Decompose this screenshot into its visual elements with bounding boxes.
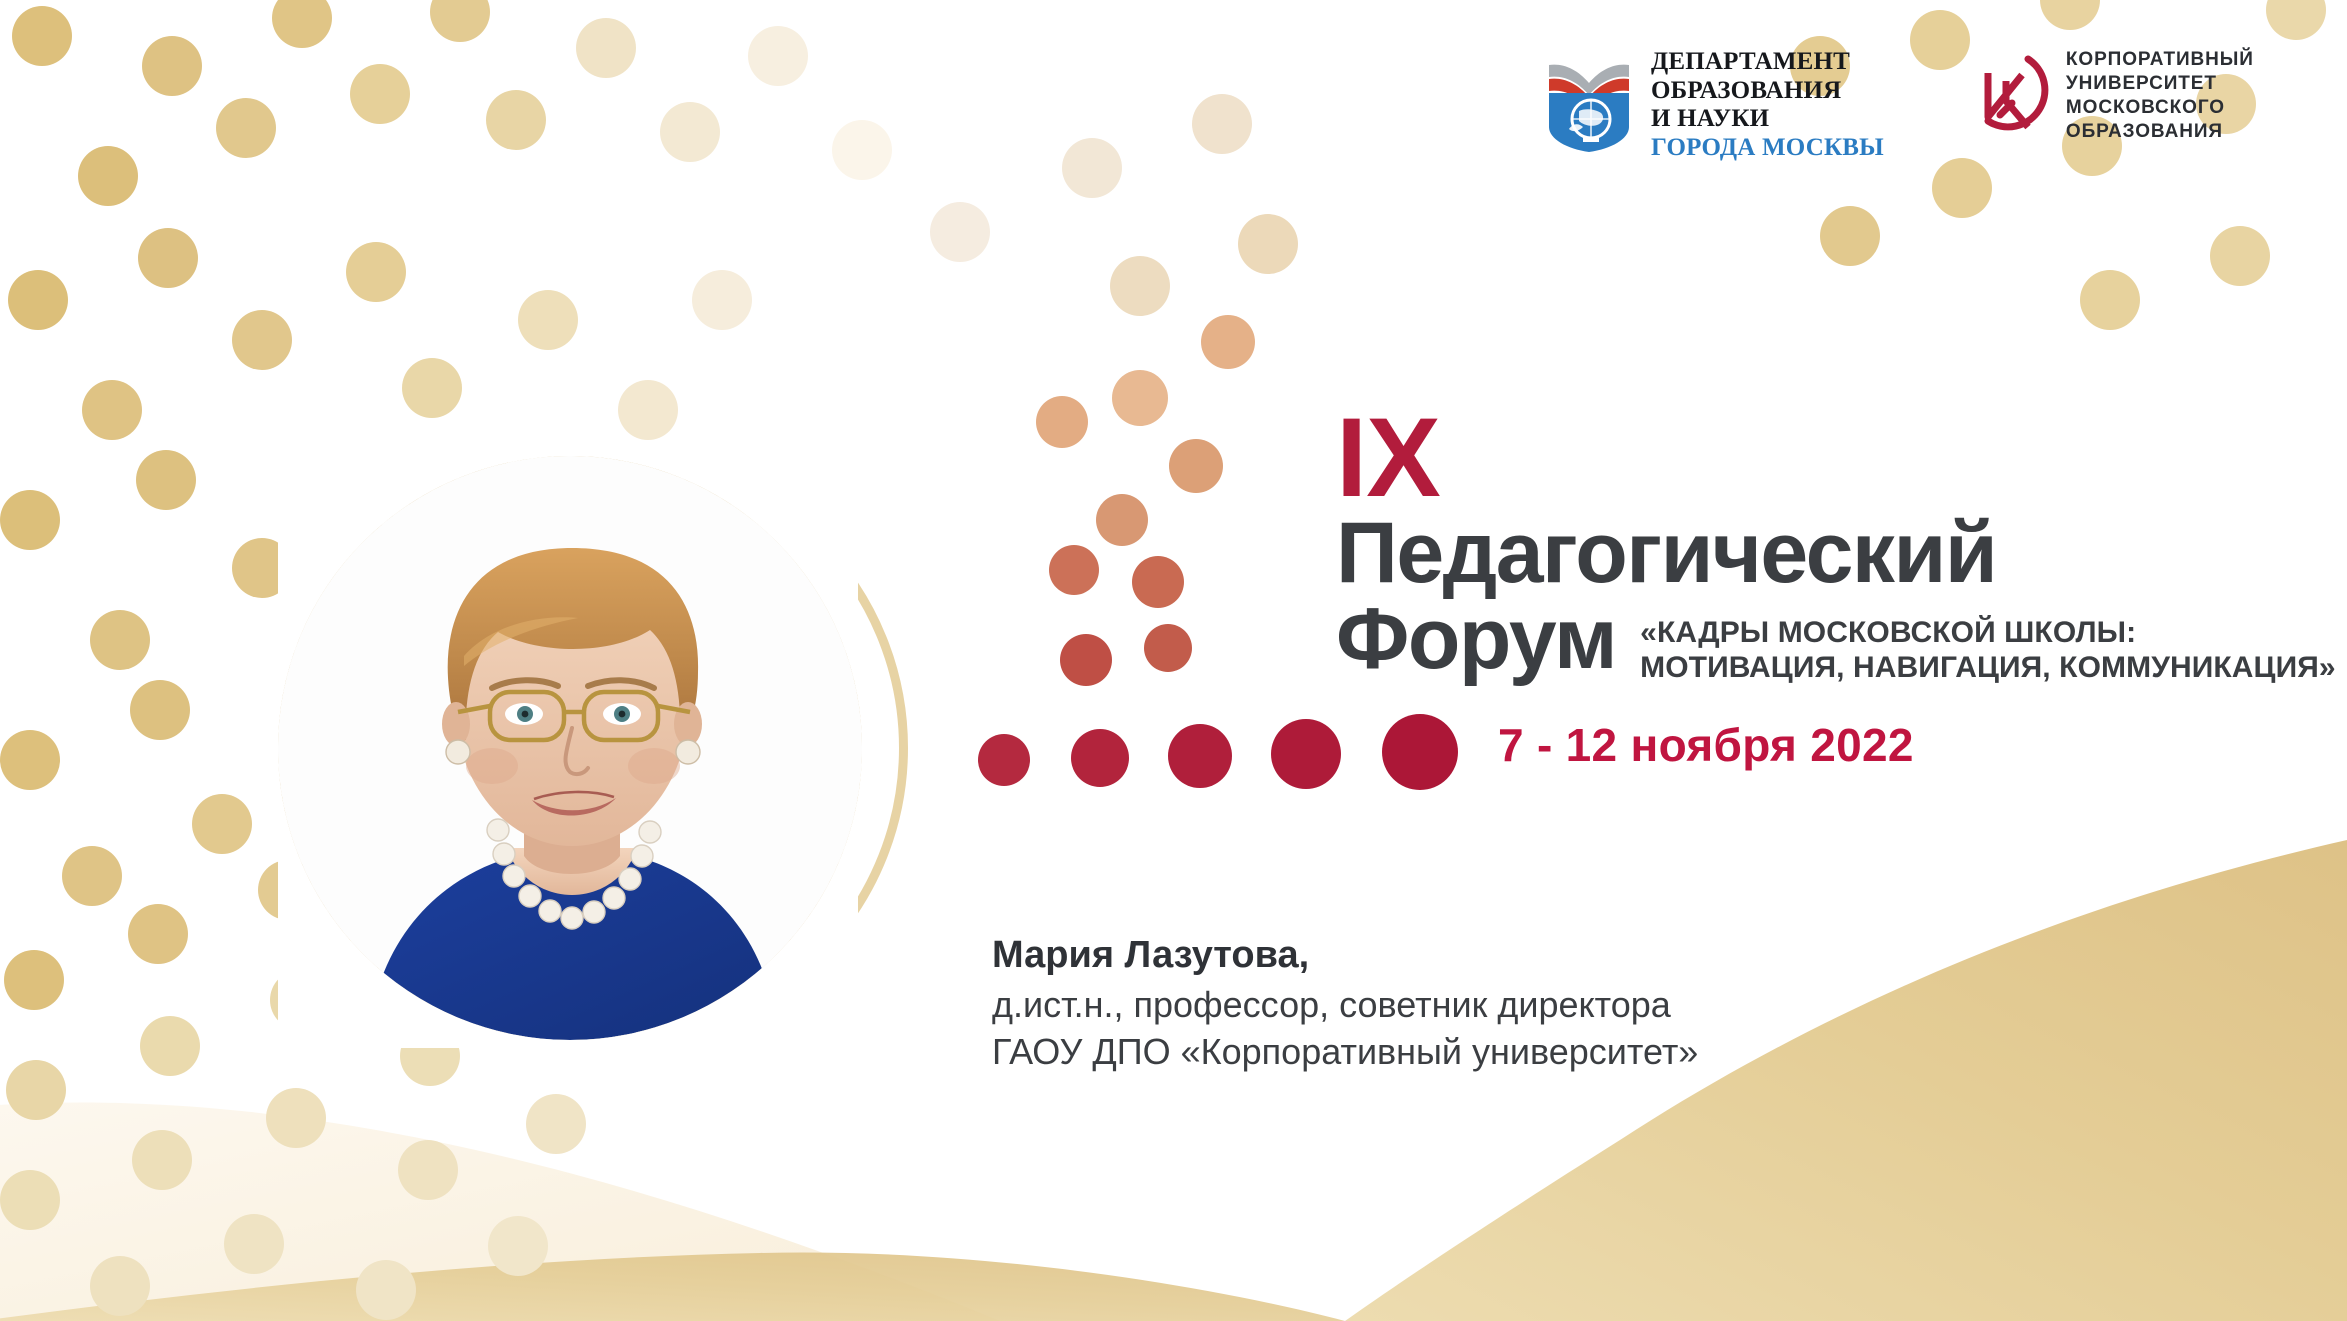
- department-line-1: ДЕПАРТАМЕНТ: [1651, 48, 1884, 77]
- department-logo: ДЕПАРТАМЕНТ ОБРАЗОВАНИЯ И НАУКИ ГОРОДА М…: [1545, 48, 1884, 162]
- event-subtitle: «КАДРЫ МОСКОВСКОЙ ШКОЛЫ: МОТИВАЦИЯ, НАВИ…: [1640, 615, 2336, 685]
- headline-line-2: Форум: [1336, 597, 1616, 681]
- speaker-title-line-1: д.ист.н., профессор, советник директора: [992, 981, 1698, 1029]
- department-line-2: ОБРАЗОВАНИЯ: [1651, 77, 1884, 106]
- corporate-university-logo: КОРПОРАТИВНЫЙ УНИВЕРСИТЕТ МОСКОВСКОГО ОБ…: [1966, 48, 2254, 144]
- speaker-portrait: [278, 448, 878, 1048]
- department-logo-text: ДЕПАРТАМЕНТ ОБРАЗОВАНИЯ И НАУКИ ГОРОДА М…: [1651, 48, 1884, 162]
- gold-swoosh-bottom-right: [1345, 840, 2347, 1321]
- headline-line-1: Педагогический: [1336, 511, 2336, 595]
- corporate-university-logo-text: КОРПОРАТИВНЫЙ УНИВЕРСИТЕТ МОСКОВСКОГО ОБ…: [2066, 48, 2254, 144]
- cream-swoosh-bottom-left: [0, 1102, 1000, 1321]
- department-city-line: ГОРОДА МОСКВЫ: [1651, 134, 1884, 163]
- speaker-title-line-2: ГАОУ ДПО «Корпоративный университет»: [992, 1028, 1698, 1076]
- ku-line-1: КОРПОРАТИВНЫЙ: [2066, 48, 2254, 72]
- speaker-info: Мария Лазутова, д.ист.н., профессор, сов…: [992, 930, 1698, 1076]
- department-line-3: И НАУКИ: [1651, 105, 1884, 134]
- subtitle-line-2: МОТИВАЦИЯ, НАВИГАЦИЯ, КОММУНИКАЦИЯ»: [1640, 650, 2336, 685]
- speaker-name: Мария Лазутова,: [992, 930, 1698, 981]
- corporate-university-monogram-icon: [1966, 49, 2050, 142]
- ku-line-3: МОСКОВСКОГО: [2066, 96, 2254, 120]
- subtitle-line-1: «КАДРЫ МОСКОВСКОЙ ШКОЛЫ:: [1640, 615, 2336, 650]
- event-dates: 7 - 12 ноября 2022: [1498, 718, 1914, 772]
- ku-line-4: ОБРАЗОВАНИЯ: [2066, 120, 2254, 144]
- logo-bar: ДЕПАРТАМЕНТ ОБРАЗОВАНИЯ И НАУКИ ГОРОДА М…: [1545, 48, 2254, 162]
- moscow-education-department-emblem-icon: [1545, 53, 1633, 158]
- poster-canvas: ДЕПАРТАМЕНТ ОБРАЗОВАНИЯ И НАУКИ ГОРОДА М…: [0, 0, 2347, 1321]
- forum-row: Форум «КАДРЫ МОСКОВСКОЙ ШКОЛЫ: МОТИВАЦИЯ…: [1336, 597, 2336, 685]
- ku-line-2: УНИВЕРСИТЕТ: [2066, 72, 2254, 96]
- edition-roman-numeral: IX: [1336, 406, 2336, 509]
- speaker-photo: [278, 456, 862, 1040]
- gold-swoosh-bottom-extension: [0, 1252, 1345, 1321]
- event-headline: IX Педагогический Форум «КАДРЫ МОСКОВСКО…: [1336, 406, 2336, 685]
